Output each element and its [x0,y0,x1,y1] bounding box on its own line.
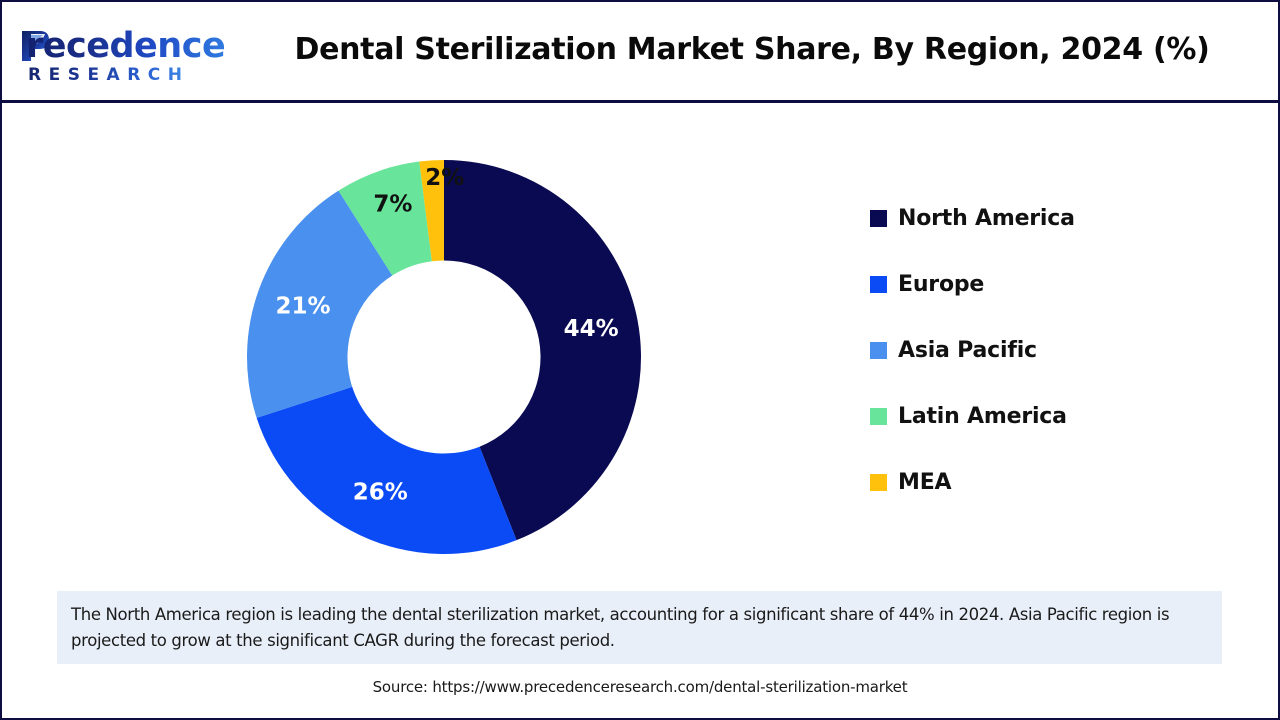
legend-swatch-icon [870,276,887,293]
insight-callout-text: The North America region is leading the … [71,602,1208,654]
donut-slices [247,160,641,554]
donut-chart-svg: 44%26%21%7%2% [247,160,641,554]
insight-callout: The North America region is leading the … [57,591,1222,664]
legend-item[interactable]: North America [870,207,1200,229]
donut-chart: 44%26%21%7%2% [247,160,641,554]
legend-item-label: North America [898,206,1075,231]
source-line: Source: https://www.precedenceresearch.c… [2,678,1278,696]
donut-slice[interactable] [257,387,517,554]
chart-legend: North AmericaEuropeAsia PacificLatin Ame… [870,207,1200,537]
legend-item[interactable]: Latin America [870,405,1200,427]
chart-page: recedence RESEARCH Dental Sterilization … [0,0,1280,720]
precedence-research-logo: recedence RESEARCH [18,26,228,86]
legend-swatch-icon [870,210,887,227]
page-header: recedence RESEARCH Dental Sterilization … [2,2,1278,103]
logo-wordmark: recedence [26,26,225,66]
legend-item[interactable]: Europe [870,273,1200,295]
chart-area: 44%26%21%7%2% North AmericaEuropeAsia Pa… [2,103,1278,573]
legend-item[interactable]: MEA [870,471,1200,493]
logo-subtext: RESEARCH [28,66,190,84]
legend-item-label: Asia Pacific [898,338,1037,363]
legend-swatch-icon [870,474,887,491]
legend-item-label: Latin America [898,404,1067,429]
legend-swatch-icon [870,342,887,359]
legend-item-label: Europe [898,272,984,297]
page-title: Dental Sterilization Market Share, By Re… [252,32,1252,67]
legend-item-label: MEA [898,470,951,495]
legend-swatch-icon [870,408,887,425]
legend-item[interactable]: Asia Pacific [870,339,1200,361]
